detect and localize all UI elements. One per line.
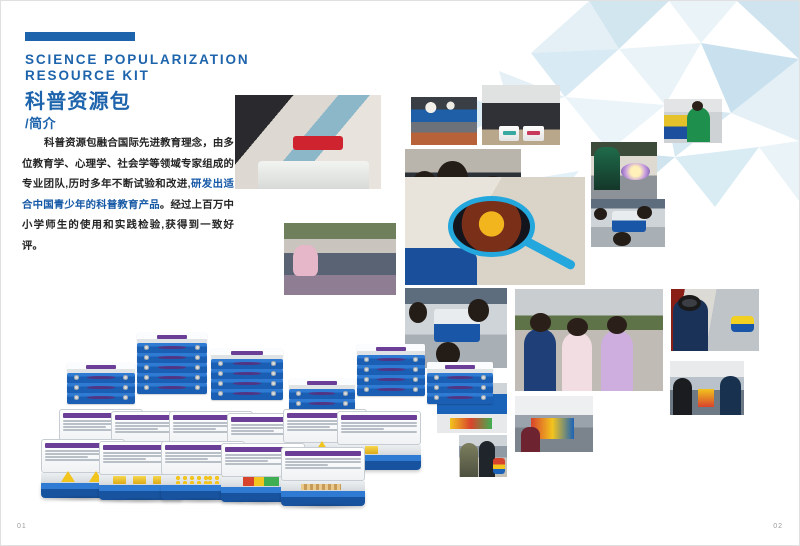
photo-headphone-activity [671,289,759,351]
photo-classroom-teacher-demo [235,95,381,189]
page-number-right: 02 [773,523,783,530]
kit-stack [67,363,135,404]
science-kit-boxes-array [31,331,381,491]
photo-child-lab-light-glow [591,142,657,200]
photo-exhibition-hall-visitors [670,361,744,415]
photo-two-men-device [459,435,507,477]
kit-stack [289,379,355,410]
title-block: SCIENCE POPULARIZATION RESOURCE KIT 科普资源… [25,32,255,132]
brochure-page: SCIENCE POPULARIZATION RESOURCE KIT 科普资源… [0,0,800,546]
photo-schoolyard-children [515,289,663,391]
page-number-left: 01 [17,523,27,530]
photo-magnifier-dish-experiment [405,177,585,285]
english-title-line1: SCIENCE POPULARIZATION [25,52,255,68]
photo-expo-booth-build [515,396,593,452]
english-title-line2: RESOURCE KIT [25,68,255,84]
chinese-subtitle: /简介 [25,116,255,132]
accent-bar [25,32,135,41]
photo-children-kneeling-kit [591,199,665,247]
photo-children-outdoor-group [284,223,396,295]
kit-stack [137,333,207,394]
photo-boy-green-jacket-kit [664,99,722,143]
chinese-title: 科普资源包 [25,90,255,114]
kit-stack [427,363,493,404]
photo-classroom-wide-shot [411,97,477,145]
kit-stack [211,349,283,400]
photo-staff-with-kit-boxes [482,85,560,145]
intro-paragraph: 科普资源包融合国际先进教育理念，由多位教育学、心理学、社会学等领域专家组成的专业… [22,134,234,257]
kit-stack [357,345,425,396]
open-kit [281,447,365,506]
